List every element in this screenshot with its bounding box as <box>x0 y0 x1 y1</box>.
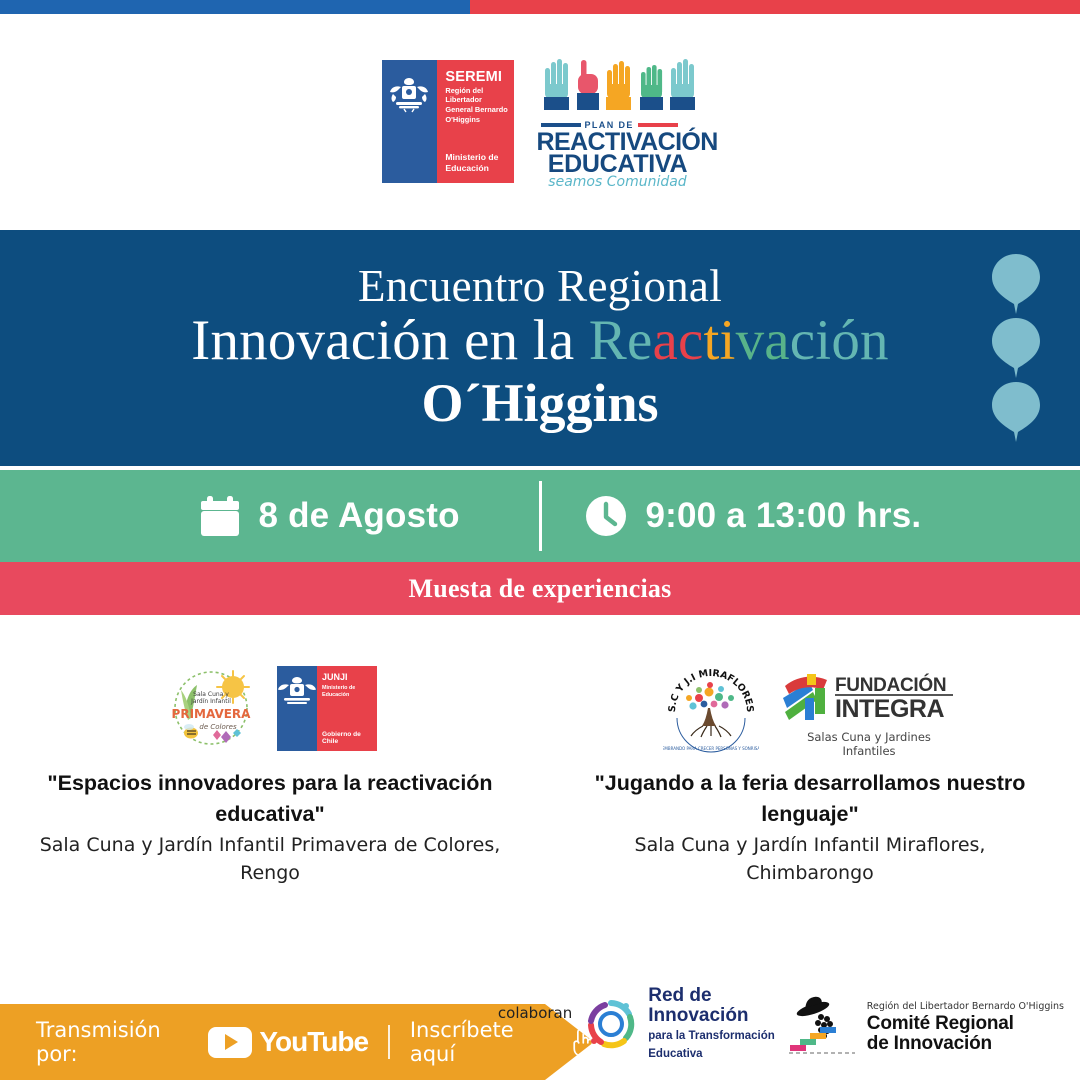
integra-figure-icon <box>779 668 835 726</box>
collaborators-group: colaboran Red de Innovaci <box>498 986 1064 1062</box>
experiences-section: Sala Cuna y Jardín Infantil PRIMAVERA de… <box>0 648 1080 938</box>
junji-gobierno: Gobierno de Chile <box>322 731 377 745</box>
poster-root: SEREMI Región del Libertador General Ber… <box>0 0 1080 1080</box>
comite-region: Región del Libertador Bernardo O'Higgins <box>867 1001 1064 1012</box>
comite-regional-logo: Región del Libertador Bernardo O'Higgins… <box>787 993 1064 1055</box>
header-logo-row: SEREMI Región del Libertador General Ber… <box>0 46 1080 196</box>
experience-right-logos: S.C Y J.I MIRAFLORES <box>663 648 957 768</box>
hero-title-seg-re: Re <box>589 309 653 372</box>
red-innovacion-line2: Innovación <box>648 1005 748 1026</box>
seremi-red-panel: SEREMI Región del Libertador General Ber… <box>437 60 514 183</box>
huaso-hat-grapes-icon <box>787 993 859 1055</box>
red-innovacion-circle-icon <box>584 997 638 1051</box>
top-bar-red-segment <box>470 0 1080 14</box>
hero-title-seg-ac: ac <box>653 309 704 372</box>
top-flag-bar <box>0 0 1080 14</box>
miraflores-tree-logo: S.C Y J.I MIRAFLORES <box>663 660 759 756</box>
primavera-de-colores-logo: Sala Cuna y Jardín Infantil PRIMAVERA de… <box>163 663 259 753</box>
experience-left-title: "Espacios innovadores para la reactivaci… <box>35 768 505 830</box>
experience-card-left: Sala Cuna y Jardín Infantil PRIMAVERA de… <box>0 648 540 938</box>
transmission-label: Transmisión por: <box>36 1018 192 1066</box>
calendar-icon <box>199 494 241 538</box>
integra-line2: INTEGRA <box>835 695 944 724</box>
junji-red-panel: JUNJI Ministerio de Educación Gobierno d… <box>317 666 377 751</box>
seremi-ministry: Ministerio de Educación <box>445 152 498 173</box>
svg-text:Jardín Infantil: Jardín Infantil <box>190 698 231 705</box>
seremi-blue-panel <box>382 60 438 183</box>
plan-tagline: seamos Comunidad <box>537 174 699 190</box>
seremi-logo: SEREMI Región del Libertador General Ber… <box>382 60 515 183</box>
svg-text:de Colores: de Colores <box>199 723 237 731</box>
collaborate-label: colaboran <box>498 1004 572 1022</box>
raised-hands-icon <box>537 56 699 118</box>
plan-reactivacion-educativa-logo: PLAN DE REACTIVACIÓN EDUCATIVA seamos Co… <box>537 56 699 186</box>
svg-text:Sala Cuna y: Sala Cuna y <box>193 691 229 698</box>
date-time-band: 8 de Agosto 9:00 a 13:00 hrs. <box>0 470 1080 562</box>
hero-title-plain: Innovación en la <box>191 309 589 372</box>
footer-divider <box>388 1025 390 1059</box>
red-innovacion-line1: Red de <box>648 985 711 1006</box>
date-group: 8 de Agosto <box>79 494 539 538</box>
hero-eyebrow: Encuentro Regional <box>358 263 722 310</box>
time-group: 9:00 a 13:00 hrs. <box>542 494 1002 538</box>
comite-text: Región del Libertador Bernardo O'Higgins… <box>867 996 1064 1055</box>
comite-line1: Comité Regional <box>867 1013 1014 1034</box>
subtitle-band: Muesta de experiencias <box>0 562 1080 615</box>
experience-right-title: "Jugando a la feria desarrollamos nuestr… <box>575 768 1045 830</box>
experience-left-subtitle: Sala Cuna y Jardín Infantil Primavera de… <box>35 832 505 887</box>
hero-title-seg-va: va <box>736 309 790 372</box>
fundacion-integra-logo: FUNDACIÓN INTEGRA Salas Cuna y Jardines … <box>777 662 957 754</box>
hero-band: Encuentro Regional Innovación en la Reac… <box>0 230 1080 466</box>
experience-card-right: S.C Y J.I MIRAFLORES <box>540 648 1080 938</box>
hero-title: Innovación en la Reactivación <box>191 310 888 372</box>
clock-icon <box>584 494 628 538</box>
junji-ministry: Ministerio de Educación <box>322 685 355 700</box>
comite-line2: de Innovación <box>867 1033 992 1054</box>
junji-logo: JUNJI Ministerio de Educación Gobierno d… <box>277 666 377 751</box>
hero-title-seg-ti: ti <box>704 309 736 372</box>
hero-region: O´Higgins <box>421 374 658 433</box>
experience-right-subtitle: Sala Cuna y Jardín Infantil Miraflores, … <box>575 832 1045 887</box>
date-label: 8 de Agosto <box>259 496 460 536</box>
subtitle-text: Muesta de experiencias <box>409 574 672 604</box>
red-de-innovacion-logo: Red de Innovación para la Transformación… <box>584 986 775 1062</box>
red-innovacion-text: Red de Innovación para la Transformación… <box>648 986 775 1062</box>
experience-left-logos: Sala Cuna y Jardín Infantil PRIMAVERA de… <box>163 648 377 768</box>
chile-coat-of-arms-icon <box>387 74 431 114</box>
hero-title-seg-cion: ción <box>790 309 889 372</box>
top-bar-blue-segment <box>0 0 470 14</box>
red-innovacion-line3: para la Transformación <box>648 1030 775 1042</box>
youtube-play-icon <box>208 1027 252 1058</box>
chile-coat-of-arms-icon <box>274 674 320 708</box>
youtube-wordmark: YouTube <box>259 1026 368 1058</box>
plan-rule-blue <box>541 123 581 127</box>
footer: Transmisión por: YouTube Inscríbete aquí… <box>0 972 1080 1080</box>
svg-text:PRIMAVERA: PRIMAVERA <box>172 707 252 721</box>
red-innovacion-line4: Educativa <box>648 1048 702 1060</box>
junji-name: JUNJI <box>322 672 348 682</box>
youtube-link[interactable]: YouTube <box>208 1026 368 1058</box>
plan-rule-red <box>638 123 678 127</box>
integra-line3: Salas Cuna y Jardines Infantiles <box>779 730 959 758</box>
seremi-subtitle: Región del Libertador General Bernardo O… <box>445 86 514 125</box>
time-label: 9:00 a 13:00 hrs. <box>646 496 922 536</box>
junji-blue-panel <box>277 666 317 751</box>
seremi-title: SEREMI <box>445 69 502 85</box>
integra-line1: FUNDACIÓN <box>835 675 946 697</box>
svg-text:SEMBRANDO PARA CRECER PERSONAS: SEMBRANDO PARA CRECER PERSONAS Y SONRISA… <box>663 746 759 751</box>
